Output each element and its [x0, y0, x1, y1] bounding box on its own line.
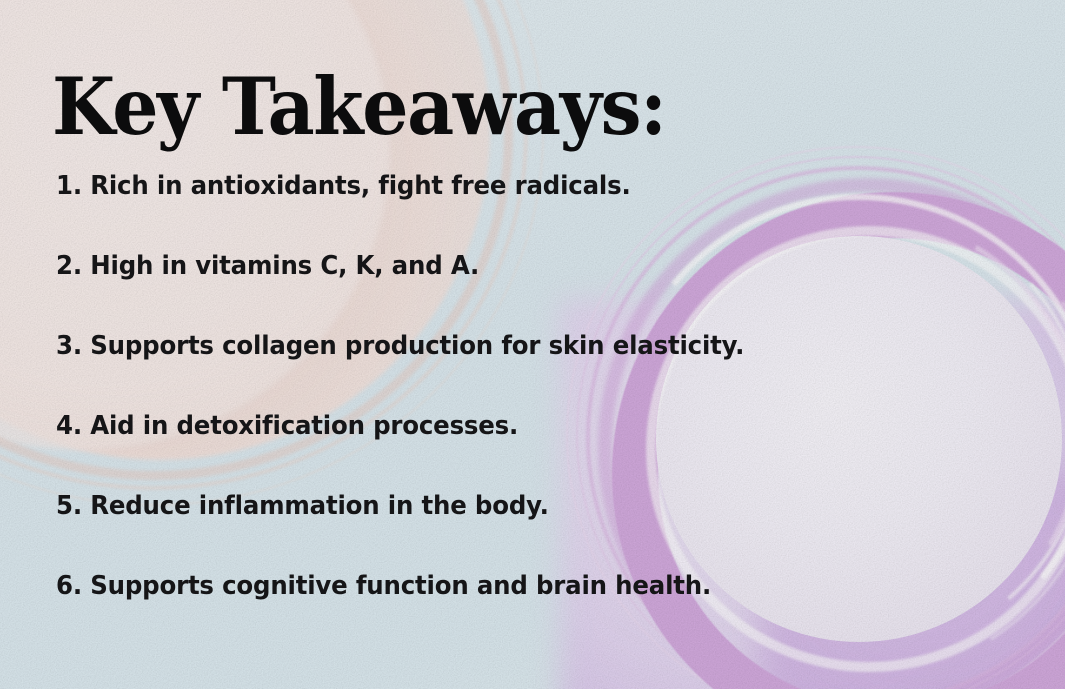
- list-item: 4. Aid in detoxification processes.: [56, 386, 733, 466]
- key-takeaways-graphic: Key Takeaways: 1. Rich in antioxidants, …: [0, 0, 1065, 689]
- list-item: 1. Rich in antioxidants, fight free radi…: [56, 146, 733, 226]
- takeaways-list: 1. Rich in antioxidants, fight free radi…: [56, 146, 776, 626]
- list-item: 3. Supports collagen production for skin…: [56, 306, 733, 386]
- list-item: 6. Supports cognitive function and brain…: [56, 546, 733, 626]
- page-title: Key Takeaways:: [52, 67, 666, 148]
- list-item: 5. Reduce inflammation in the body.: [56, 466, 733, 546]
- content-area: Key Takeaways: 1. Rich in antioxidants, …: [0, 0, 1065, 689]
- list-item: 2. High in vitamins C, K, and A.: [56, 226, 733, 306]
